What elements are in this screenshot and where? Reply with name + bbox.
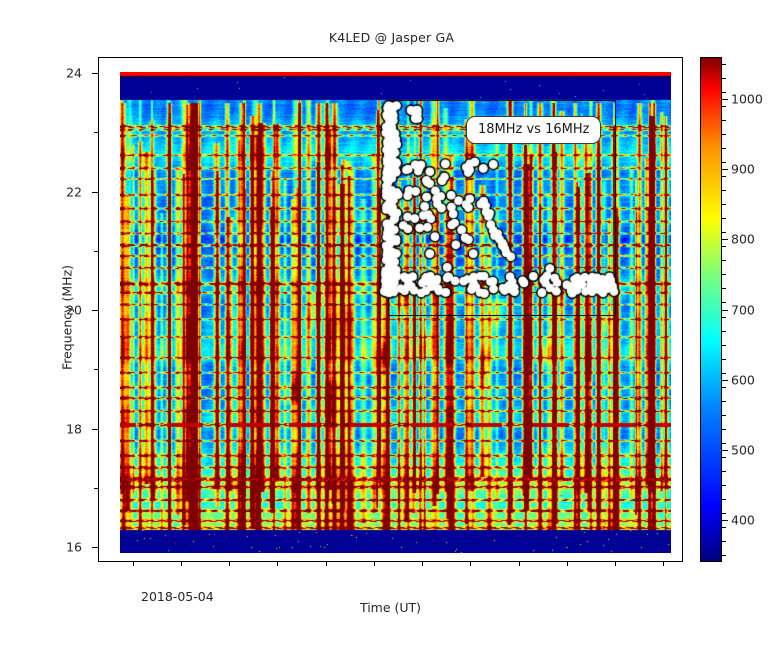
y-minor-tick-mark bbox=[94, 369, 98, 370]
y-tick-label: 20 bbox=[42, 303, 82, 318]
y-tick-label: 24 bbox=[42, 66, 82, 81]
x-minor-tick-mark bbox=[229, 562, 230, 566]
colorbar-minor-tick-mark bbox=[722, 471, 726, 472]
colorbar-tick-mark bbox=[722, 239, 728, 240]
y-minor-tick-mark bbox=[94, 132, 98, 133]
colorbar-minor-tick-mark bbox=[722, 218, 726, 219]
x-minor-tick-mark bbox=[133, 562, 134, 566]
colorbar-tick-mark bbox=[722, 99, 728, 100]
colorbar-minor-tick-mark bbox=[722, 317, 726, 318]
colorbar-minor-tick-mark bbox=[722, 176, 726, 177]
figure-canvas: K4LED @ Jasper GA 18MHz vs 16MHz Frequen… bbox=[0, 0, 783, 656]
colorbar-minor-tick-mark bbox=[722, 345, 726, 346]
x-minor-tick-mark bbox=[374, 562, 375, 566]
y-tick-mark bbox=[92, 429, 98, 430]
y-minor-tick-mark bbox=[94, 251, 98, 252]
colorbar-minor-tick-mark bbox=[722, 190, 726, 191]
y-tick-mark bbox=[92, 73, 98, 74]
colorbar-minor-tick-mark bbox=[722, 162, 726, 163]
colorbar-tick-label: 600 bbox=[731, 372, 755, 387]
colorbar-minor-tick-mark bbox=[722, 415, 726, 416]
colorbar-minor-tick-mark bbox=[722, 232, 726, 233]
colorbar-minor-tick-mark bbox=[722, 134, 726, 135]
colorbar-minor-tick-mark bbox=[722, 148, 726, 149]
colorbar-minor-tick-mark bbox=[722, 78, 726, 79]
colorbar-tick-mark bbox=[722, 310, 728, 311]
colorbar-minor-tick-mark bbox=[722, 541, 726, 542]
y-axis-label: Frequency (MHz) bbox=[60, 218, 75, 418]
colorbar-minor-tick-mark bbox=[722, 387, 726, 388]
colorbar-minor-tick-mark bbox=[722, 274, 726, 275]
colorbar-minor-tick-mark bbox=[722, 288, 726, 289]
colorbar-tick-mark bbox=[722, 520, 728, 521]
colorbar-tick-mark bbox=[722, 450, 728, 451]
colorbar-tick-label: 1000 bbox=[731, 92, 763, 107]
x-minor-tick-mark bbox=[519, 562, 520, 566]
colorbar-tick-label: 700 bbox=[731, 302, 755, 317]
y-tick-mark bbox=[92, 310, 98, 311]
colorbar bbox=[700, 57, 722, 562]
y-tick-label: 18 bbox=[42, 421, 82, 436]
colorbar-minor-tick-mark bbox=[722, 302, 726, 303]
spectrogram-image bbox=[120, 72, 671, 553]
colorbar-minor-tick-mark bbox=[722, 106, 726, 107]
colorbar-minor-tick-mark bbox=[722, 513, 726, 514]
x-minor-tick-mark bbox=[615, 562, 616, 566]
colorbar-minor-tick-mark bbox=[722, 527, 726, 528]
x-minor-tick-mark bbox=[181, 562, 182, 566]
colorbar-minor-tick-mark bbox=[722, 120, 726, 121]
colorbar-minor-tick-mark bbox=[722, 331, 726, 332]
x-minor-tick-mark bbox=[470, 562, 471, 566]
x-minor-tick-mark bbox=[422, 562, 423, 566]
colorbar-minor-tick-mark bbox=[722, 204, 726, 205]
colorbar-tick-label: 500 bbox=[731, 442, 755, 457]
x-minor-tick-mark bbox=[567, 562, 568, 566]
colorbar-minor-tick-mark bbox=[722, 92, 726, 93]
x-minor-tick-mark bbox=[663, 562, 664, 566]
colorbar-tick-label: 800 bbox=[731, 232, 755, 247]
colorbar-minor-tick-mark bbox=[722, 485, 726, 486]
colorbar-minor-tick-mark bbox=[722, 260, 726, 261]
y-tick-mark bbox=[92, 192, 98, 193]
colorbar-tick-label: 400 bbox=[731, 512, 755, 527]
colorbar-minor-tick-mark bbox=[722, 373, 726, 374]
colorbar-minor-tick-mark bbox=[722, 443, 726, 444]
colorbar-minor-tick-mark bbox=[722, 401, 726, 402]
colorbar-minor-tick-mark bbox=[722, 457, 726, 458]
colorbar-minor-tick-mark bbox=[722, 429, 726, 430]
colorbar-minor-tick-mark bbox=[722, 359, 726, 360]
y-minor-tick-mark bbox=[94, 488, 98, 489]
colorbar-tick-mark bbox=[722, 380, 728, 381]
colorbar-minor-tick-mark bbox=[722, 64, 726, 65]
colorbar-minor-tick-mark bbox=[722, 499, 726, 500]
x-minor-tick-mark bbox=[326, 562, 327, 566]
colorbar-tick-mark bbox=[722, 169, 728, 170]
y-tick-label: 16 bbox=[42, 540, 82, 555]
y-tick-mark bbox=[92, 547, 98, 548]
spectrogram-canvas bbox=[120, 72, 671, 553]
x-axis-label: Time (UT) bbox=[98, 600, 683, 615]
colorbar-minor-tick-mark bbox=[722, 555, 726, 556]
colorbar-minor-tick-mark bbox=[722, 246, 726, 247]
colorbar-tick-label: 900 bbox=[731, 162, 755, 177]
x-minor-tick-mark bbox=[277, 562, 278, 566]
y-tick-label: 22 bbox=[42, 184, 82, 199]
page-title: K4LED @ Jasper GA bbox=[0, 30, 783, 45]
annotation-label: 18MHz vs 16MHz bbox=[466, 116, 601, 144]
